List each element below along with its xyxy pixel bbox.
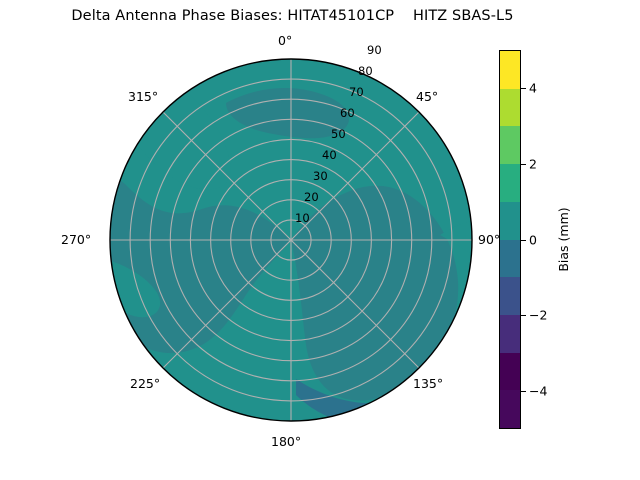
colorbar-band-5 bbox=[500, 240, 520, 278]
radial-tick-60: 60 bbox=[340, 106, 355, 120]
radial-tick-50: 50 bbox=[331, 127, 346, 141]
colorbar-band-4 bbox=[500, 202, 520, 240]
colorbar-band-0 bbox=[500, 51, 520, 89]
colorbar-tick-label-minus4: −4 bbox=[529, 384, 547, 399]
contour-region-se-negative bbox=[291, 186, 458, 401]
angle-tick-0: 0° bbox=[278, 33, 292, 48]
radial-tick-10: 10 bbox=[295, 211, 310, 225]
colorbar-band-3 bbox=[500, 164, 520, 202]
radial-tick-30: 30 bbox=[313, 169, 328, 183]
colorbar-tick-label-0: 0 bbox=[529, 232, 537, 247]
angle-tick-180: 180° bbox=[271, 434, 301, 449]
colorbar-band-6 bbox=[500, 277, 520, 315]
radial-tick-90: 90 bbox=[367, 43, 382, 57]
colorbar-tick-label-4: 4 bbox=[529, 80, 537, 95]
radial-tick-70: 70 bbox=[349, 85, 364, 99]
colorbar-band-2 bbox=[500, 126, 520, 164]
colorbar-axis-label: Bias (mm) bbox=[556, 50, 574, 429]
polar-plot-svg bbox=[110, 59, 472, 421]
angle-tick-45: 45° bbox=[416, 89, 438, 104]
angle-tick-225: 225° bbox=[130, 376, 160, 391]
colorbar-tick-mark-n2 bbox=[521, 315, 526, 316]
colorbar-tick-mark-2 bbox=[521, 164, 526, 165]
angle-tick-270: 270° bbox=[61, 232, 91, 247]
radial-tick-80: 80 bbox=[358, 64, 373, 78]
colorbar-gradient bbox=[499, 50, 521, 429]
colorbar-tick-label-2: 2 bbox=[529, 156, 537, 171]
colorbar-tick-label-minus2: −2 bbox=[529, 308, 547, 323]
colorbar-tick-mark-4 bbox=[521, 88, 526, 89]
colorbar[interactable] bbox=[499, 50, 521, 429]
colorbar-tick-mark-n4 bbox=[521, 391, 526, 392]
angle-tick-135: 135° bbox=[413, 376, 443, 391]
colorbar-band-8 bbox=[500, 353, 520, 391]
colorbar-band-1 bbox=[500, 89, 520, 127]
radial-tick-20: 20 bbox=[304, 190, 319, 204]
colorbar-band-7 bbox=[500, 315, 520, 353]
polar-axes[interactable]: 0° 45° 90° 135° 180° 225° 270° 315° 10 2… bbox=[110, 59, 472, 421]
radial-tick-40: 40 bbox=[322, 148, 337, 162]
angle-tick-315: 315° bbox=[128, 89, 158, 104]
colorbar-band-9 bbox=[500, 390, 520, 428]
angular-gridlines bbox=[110, 59, 472, 421]
angle-tick-90: 90° bbox=[478, 232, 500, 247]
page-title: Delta Antenna Phase Biases: HITAT45101CP… bbox=[0, 8, 585, 24]
polar-chart-figure: Delta Antenna Phase Biases: HITAT45101CP… bbox=[0, 0, 640, 480]
colorbar-tick-mark-0 bbox=[521, 240, 526, 241]
